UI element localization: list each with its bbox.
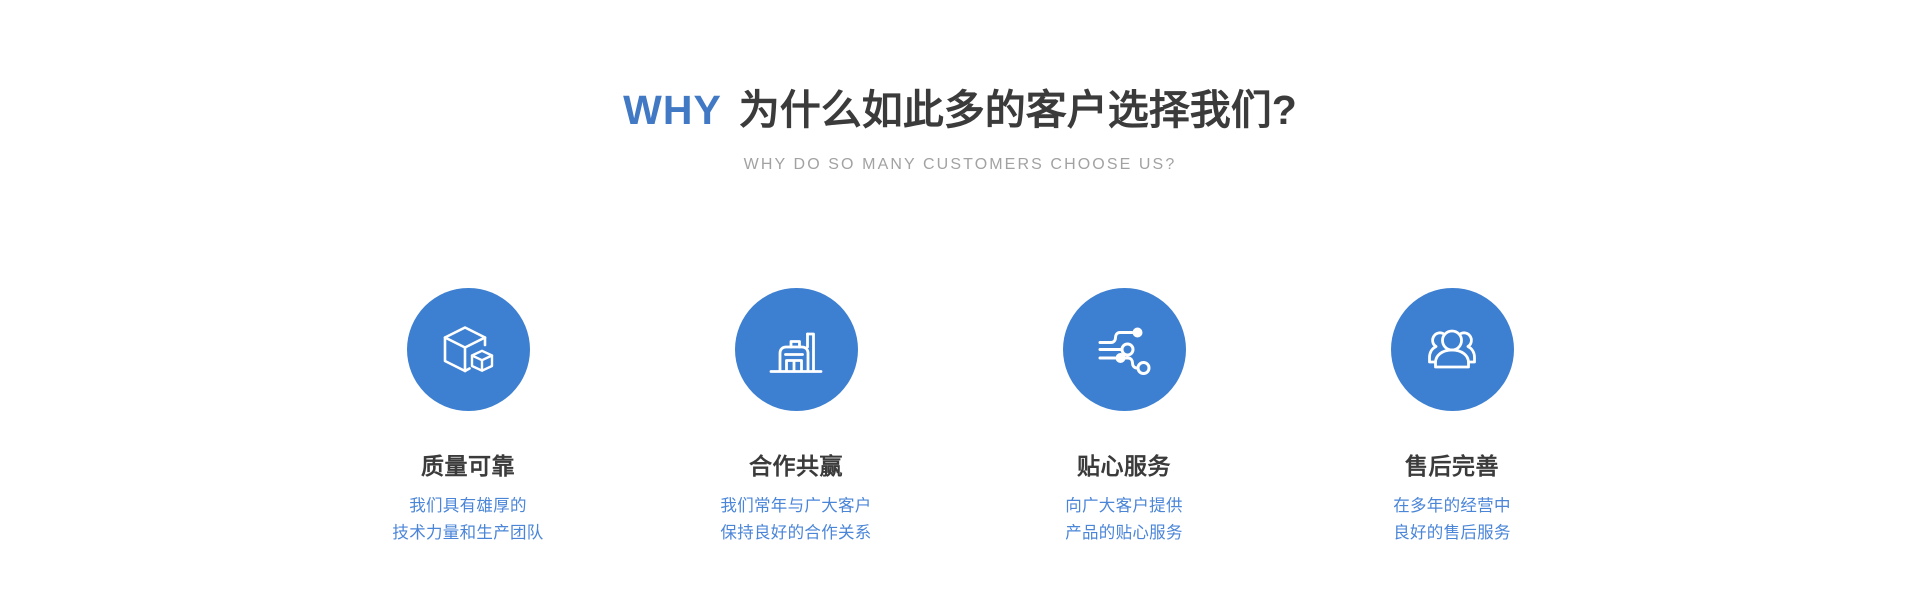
section-title: WHY为什么如此多的客户选择我们? (0, 84, 1920, 136)
feature-description: 我们具有雄厚的 技术力量和生产团队 (392, 493, 543, 547)
feature-desc-line-2: 技术力量和生产团队 (392, 520, 543, 547)
feature-description: 向广大客户提供 产品的贴心服务 (1065, 493, 1183, 547)
feature-desc-line-2: 产品的贴心服务 (1065, 520, 1183, 547)
feature-item-aftersales[interactable]: 售后完善 在多年的经营中 良好的售后服务 (1288, 288, 1616, 547)
feature-icon-circle (1391, 288, 1514, 411)
users-group-icon (1419, 317, 1485, 383)
feature-item-cooperation[interactable]: 合作共赢 我们常年与广大客户 保持良好的合作关系 (632, 288, 960, 547)
section-heading: WHY为什么如此多的客户选择我们? WHY DO SO MANY CUSTOME… (0, 84, 1920, 176)
feature-desc-line-1: 向广大客户提供 (1065, 493, 1183, 520)
feature-desc-line-1: 我们具有雄厚的 (392, 493, 543, 520)
feature-description: 在多年的经营中 良好的售后服务 (1393, 493, 1511, 547)
feature-desc-line-2: 保持良好的合作关系 (720, 520, 871, 547)
feature-item-service[interactable]: 贴心服务 向广大客户提供 产品的贴心服务 (960, 288, 1288, 547)
feature-icon-circle (1063, 288, 1186, 411)
feature-title: 贴心服务 (1077, 452, 1171, 480)
title-eyebrow-why: WHY (623, 87, 722, 133)
feature-description: 我们常年与广大客户 保持良好的合作关系 (720, 493, 871, 547)
feature-desc-line-1: 我们常年与广大客户 (720, 493, 871, 520)
feature-icon-circle (735, 288, 858, 411)
package-box-icon (435, 317, 501, 383)
feature-icon-circle (407, 288, 530, 411)
feature-title: 合作共赢 (749, 452, 843, 480)
section-subtitle: WHY DO SO MANY CUSTOMERS CHOOSE US? (0, 154, 1920, 176)
feature-desc-line-1: 在多年的经营中 (1393, 493, 1511, 520)
title-main-chinese: 为什么如此多的客户选择我们? (739, 87, 1297, 133)
feature-title: 售后完善 (1405, 452, 1499, 480)
why-choose-us-section: WHY为什么如此多的客户选择我们? WHY DO SO MANY CUSTOME… (0, 0, 1920, 615)
factory-icon (763, 317, 829, 383)
circuit-nodes-icon (1091, 317, 1157, 383)
feature-desc-line-2: 良好的售后服务 (1393, 520, 1511, 547)
feature-title: 质量可靠 (421, 452, 515, 480)
feature-item-quality[interactable]: 质量可靠 我们具有雄厚的 技术力量和生产团队 (304, 288, 632, 547)
feature-list: 质量可靠 我们具有雄厚的 技术力量和生产团队 (304, 288, 1616, 547)
